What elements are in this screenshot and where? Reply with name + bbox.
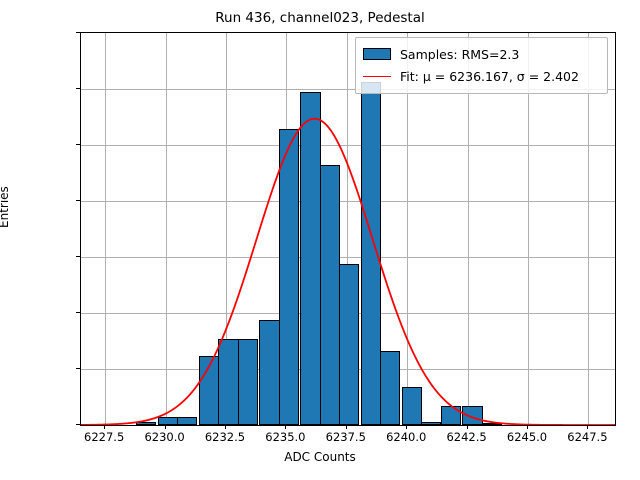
x-tick-label: 6237.5 (326, 430, 366, 444)
x-axis-label: ADC Counts (0, 450, 640, 464)
x-tick-label: 6227.5 (84, 430, 124, 444)
x-tick-label: 6245.0 (507, 430, 547, 444)
legend-patch-icon (363, 48, 391, 60)
gaussian-fit-path (81, 119, 615, 425)
x-tick-label: 6240.0 (386, 430, 426, 444)
x-tick-label: 6235.0 (265, 430, 305, 444)
chart-title: Run 436, channel023, Pedestal (0, 10, 640, 26)
legend-label-samples: Samples: RMS=2.3 (400, 47, 519, 62)
chart-legend: Samples: RMS=2.3 Fit: μ = 6236.167, σ = … (355, 37, 608, 94)
x-tick-label: 6247.5 (567, 430, 607, 444)
legend-entry-fit: Fit: μ = 6236.167, σ = 2.402 (363, 65, 600, 87)
y-axis-label: Entries (0, 186, 11, 228)
legend-label-fit: Fit: μ = 6236.167, σ = 2.402 (400, 69, 579, 84)
x-tick-label: 6232.5 (205, 430, 245, 444)
legend-entry-samples: Samples: RMS=2.3 (363, 43, 600, 65)
figure-canvas: Run 436, channel023, Pedestal Entries AD… (0, 0, 640, 480)
x-tick-label: 6230.0 (144, 430, 184, 444)
legend-line-icon (363, 76, 391, 77)
x-tick-label: 6242.5 (446, 430, 486, 444)
